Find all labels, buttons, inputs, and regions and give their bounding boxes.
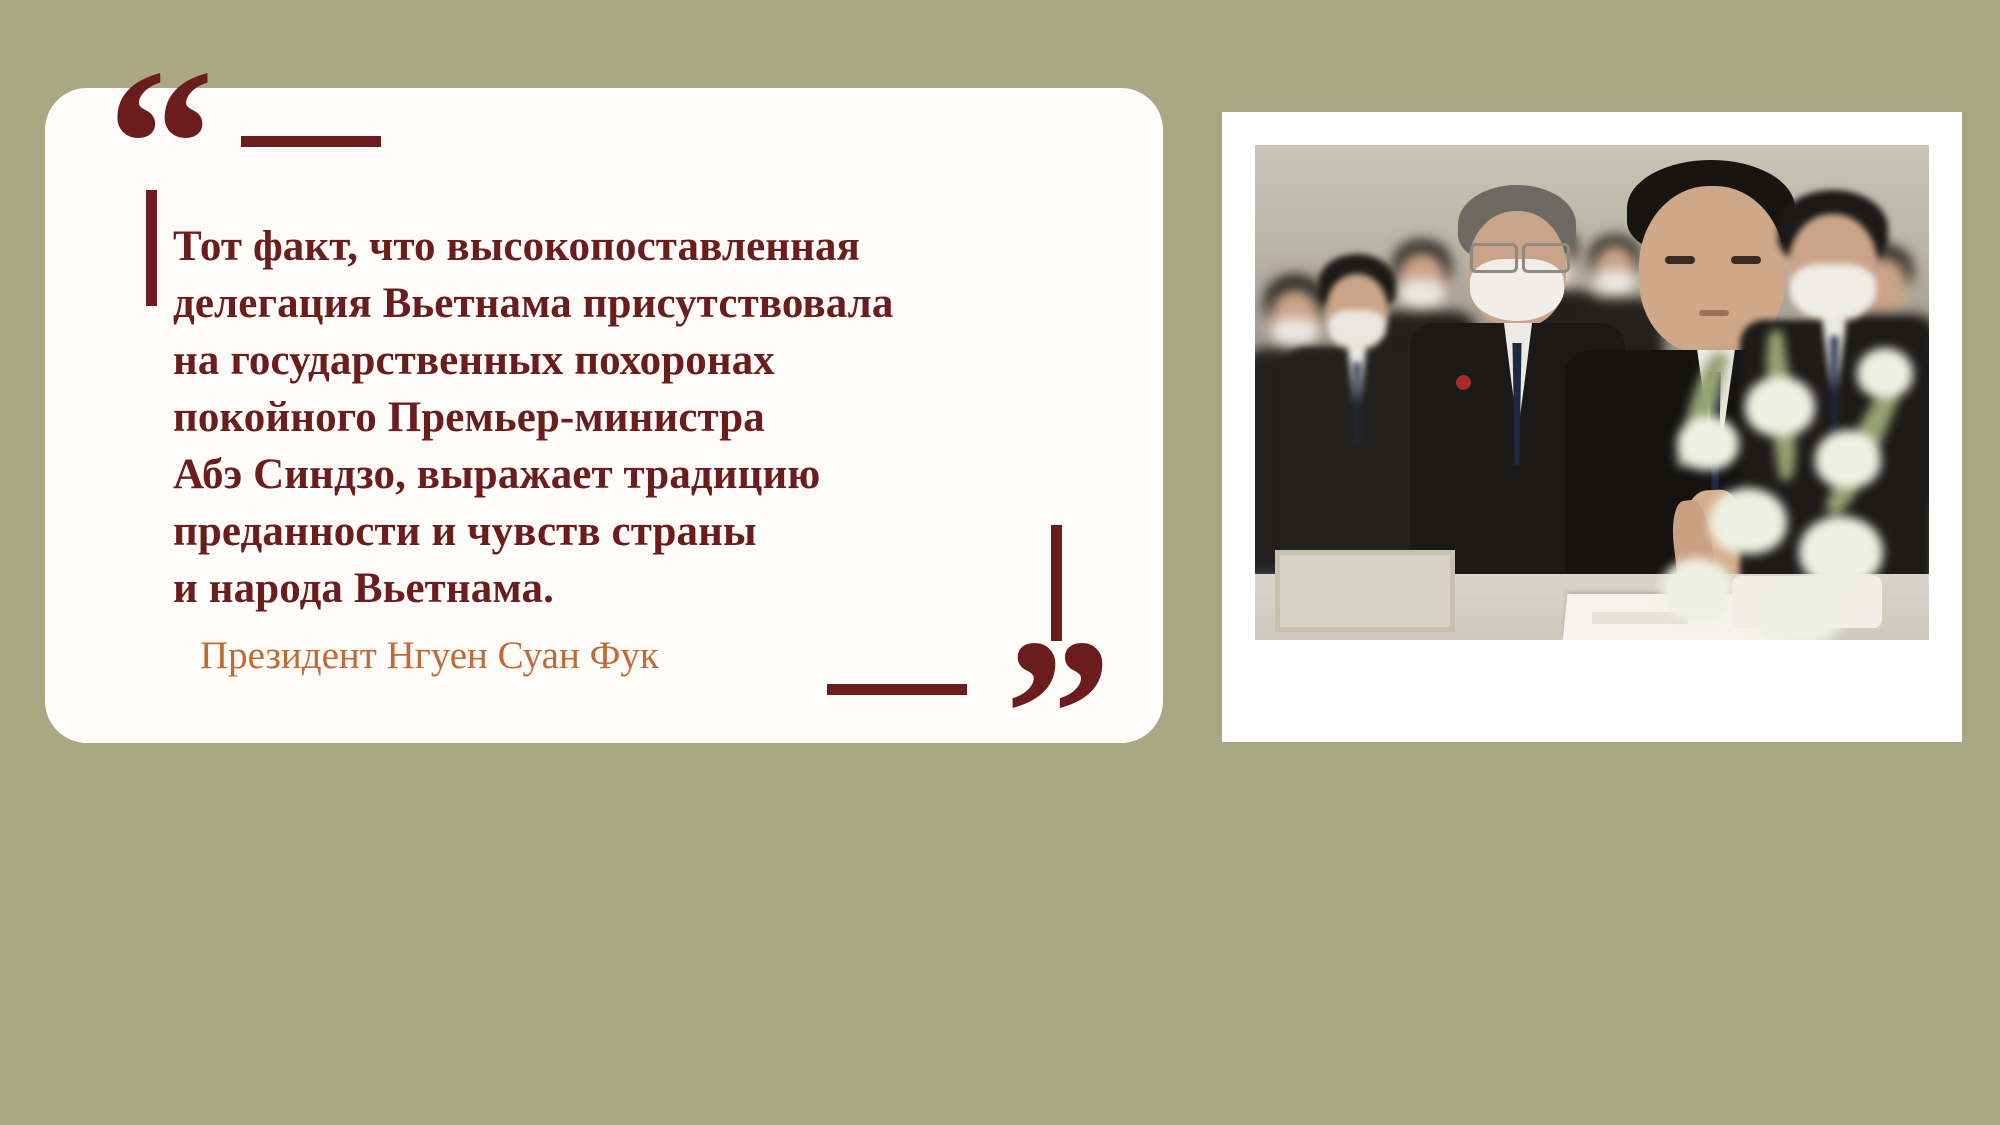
memorial-frame	[1275, 550, 1455, 632]
opening-rule-vertical	[146, 190, 157, 306]
quote-line: делегация Вьетнама присутствовала	[173, 275, 1073, 332]
quote-card: “ Тот факт, что высокопоставленная делег…	[45, 88, 1163, 743]
quote-line: и народа Вьетнама.	[173, 560, 1073, 617]
quote-line: на государственных похоронах	[173, 332, 1073, 389]
photo-frame	[1255, 145, 1929, 640]
closing-quote-icon: ”	[1005, 606, 1109, 821]
quote-text: Тот факт, что высокопоставленная делегац…	[173, 218, 1073, 617]
opening-rule-horizontal	[241, 136, 381, 147]
slide-root: “ Тот факт, что высокопоставленная делег…	[0, 0, 2000, 1125]
quote-attribution: Президент Нгуен Суан Фук	[200, 633, 659, 680]
closing-rule-horizontal	[827, 684, 967, 695]
quote-line: Тот факт, что высокопоставленная	[173, 218, 1073, 275]
quote-line: Абэ Синдзо, выражает традицию	[173, 446, 1073, 503]
quote-line: преданности и чувств страны	[173, 503, 1073, 560]
white-flowers	[1649, 320, 1929, 640]
photo-image	[1255, 145, 1929, 640]
photo-card	[1222, 112, 1962, 742]
quote-line: покойного Премьер-министра	[173, 389, 1073, 446]
